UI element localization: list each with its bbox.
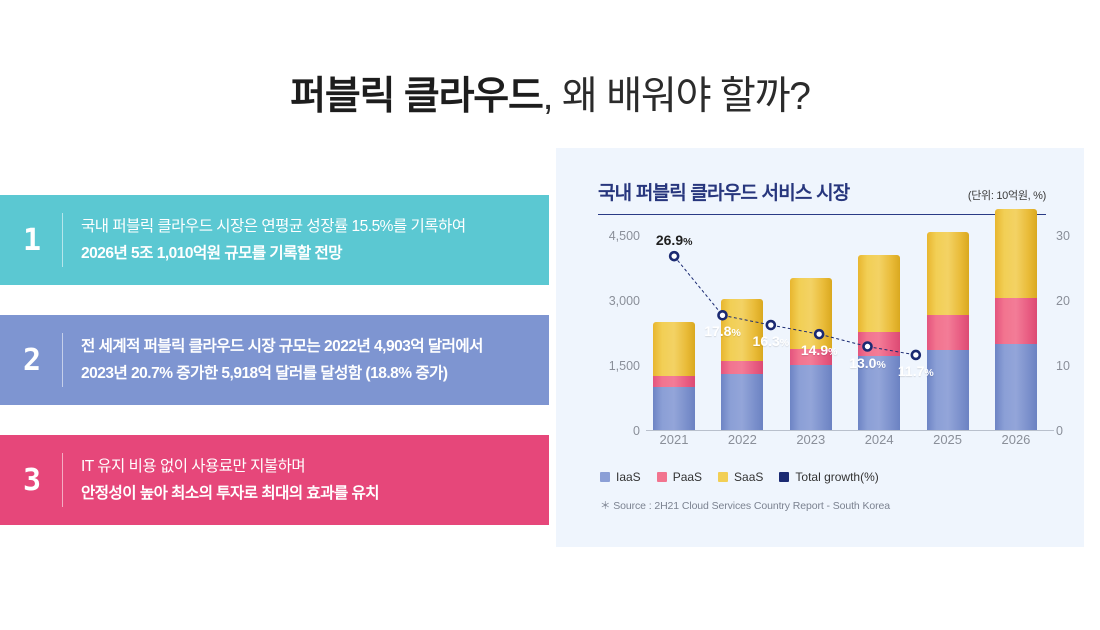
legend-item[interactable]: Total growth(%) [779,470,878,484]
y-axis-left-tick: 1,500 [609,359,640,373]
legend-label: IaaS [616,470,641,484]
legend-label: PaaS [673,470,702,484]
stacked-bar[interactable]: 5,101.0 [995,209,1037,430]
legend-swatch [657,472,667,482]
list-item-line1: IT 유지 비용 없이 사용료만 지불하며 [81,453,379,480]
slide-root: 퍼블릭 클라우드, 왜 배워야 할까? 1 국내 퍼블릭 클라우드 시장은 연평… [0,0,1100,630]
bar-segment-iaas [721,374,763,430]
list-item-line2: 2026년 5조 1,010억원 규모를 기록할 전망 [81,240,466,267]
growth-percent-label: 11.7% [898,363,934,379]
y-axis-left-tick: 0 [633,424,640,438]
page-title-light: , 왜 배워야 할까? [543,75,810,118]
bar-segment-paas [927,315,969,350]
chart-legend: IaaSPaaSSaaSTotal growth(%) [600,470,879,484]
chart-plot-area: 01,5003,0004,500 0102030 2,485.63,022.63… [598,236,1046,431]
bar-segment-iaas [653,387,695,430]
y-axis-right-tick: 10 [1056,359,1070,373]
chart-title: 국내 퍼블릭 클라우드 서비스 시장 [598,178,849,205]
list-item-line1: 전 세계적 퍼블릭 클라우드 시장 규모는 2022년 4,903억 달러에서 [81,333,483,360]
list-item-line2: 2023년 20.7% 증가한 5,918억 달러를 달성함 (18.8% 증가… [81,360,483,387]
bar-segment-iaas [927,350,969,430]
bar-segment-saas [927,232,969,315]
bar-segment-paas [995,298,1037,344]
chart-panel: 국내 퍼블릭 클라우드 서비스 시장 (단위: 10억원, %) 01,5003… [556,148,1084,547]
page-title-strong: 퍼블릭 클라우드 [290,75,542,118]
bar-column[interactable]: 4,565.3 [924,232,972,430]
bar-column[interactable]: 2,485.6 [650,322,698,430]
bar-segment-saas [653,322,695,376]
stacked-bar[interactable]: 3,022.6 [721,299,763,430]
stacked-bar[interactable]: 4,039.8 [858,255,900,430]
list-item-divider [62,213,63,267]
growth-percent-label: 26.9% [656,232,693,248]
growth-percent-label: 16.3% [753,333,790,349]
bar-column[interactable]: 3,022.6 [718,299,766,430]
y-axis-right-tick: 0 [1056,424,1063,438]
legend-item[interactable]: SaaS [718,470,763,484]
bar-segment-paas [653,376,695,387]
bar-segment-iaas [995,344,1037,430]
chart-unit-label: (단위: 10억원, %) [968,187,1046,203]
y-axis-right-tick: 30 [1056,229,1070,243]
legend-label: SaaS [734,470,763,484]
chart-header: 국내 퍼블릭 클라우드 서비스 시장 (단위: 10억원, %) [598,178,1046,215]
y-axis-right: 0102030 [1046,236,1090,431]
list-item-line1: 국내 퍼블릭 클라우드 시장은 연평균 성장률 15.5%를 기록하여 [81,213,466,240]
list-item-line2: 안정성이 높아 최소의 투자로 최대의 효과를 유치 [81,480,379,507]
stacked-bar[interactable]: 2,485.6 [653,322,695,430]
x-axis-label: 2022 [718,432,766,458]
bar-column[interactable]: 5,101.0 [992,209,1040,430]
x-axis-line [646,430,1054,431]
x-axis-label: 2023 [787,432,835,458]
list-item-text: 전 세계적 퍼블릭 클라우드 시장 규모는 2022년 4,903억 달러에서 … [81,333,483,387]
bar-segment-iaas [790,365,832,430]
stacked-bar[interactable]: 4,565.3 [927,232,969,430]
list-item-number: 2 [4,343,60,378]
list-item-number: 1 [4,223,60,258]
growth-percent-label: 13.0% [849,355,886,371]
list-item-text: 국내 퍼블릭 클라우드 시장은 연평균 성장률 15.5%를 기록하여 2026… [81,213,466,267]
x-axis-label: 2026 [992,432,1040,458]
y-axis-right-tick: 20 [1056,294,1070,308]
list-item-number: 3 [4,463,60,498]
list-item: 3 IT 유지 비용 없이 사용료만 지불하며 안정성이 높아 최소의 투자로 … [0,435,549,525]
growth-percent-label: 14.9% [801,342,838,358]
bar-segment-saas [995,209,1037,299]
page-title: 퍼블릭 클라우드, 왜 배워야 할까? [0,72,1100,122]
x-axis-labels: 202120222023202420252026 [646,432,1046,458]
legend-swatch [779,472,789,482]
bar-segment-paas [858,332,900,356]
legend-swatch [600,472,610,482]
chart-source-note: ＊ Source : 2H21 Cloud Services Country R… [600,498,890,513]
bar-segment-saas [858,255,900,332]
list-item: 2 전 세계적 퍼블릭 클라우드 시장 규모는 2022년 4,903억 달러에… [0,315,549,405]
x-axis-label: 2021 [650,432,698,458]
legend-item[interactable]: IaaS [600,470,641,484]
y-axis-left-tick: 4,500 [609,229,640,243]
bar-segment-paas [721,361,763,374]
y-axis-left-tick: 3,000 [609,294,640,308]
growth-percent-label: 17.8% [704,323,741,339]
y-axis-left: 01,5003,0004,500 [594,236,640,431]
x-axis-label: 2025 [924,432,972,458]
list-item-divider [62,453,63,507]
bar-column[interactable]: 4,039.8 [855,255,903,430]
x-axis-label: 2024 [855,432,903,458]
key-points-list: 1 국내 퍼블릭 클라우드 시장은 연평균 성장률 15.5%를 기록하여 20… [0,195,549,525]
legend-item[interactable]: PaaS [657,470,702,484]
bar-segment-saas [790,278,832,350]
list-item-divider [62,333,63,387]
list-item: 1 국내 퍼블릭 클라우드 시장은 연평균 성장률 15.5%를 기록하여 20… [0,195,549,285]
legend-swatch [718,472,728,482]
list-item-text: IT 유지 비용 없이 사용료만 지불하며 안정성이 높아 최소의 투자로 최대… [81,453,379,507]
legend-label: Total growth(%) [795,470,878,484]
